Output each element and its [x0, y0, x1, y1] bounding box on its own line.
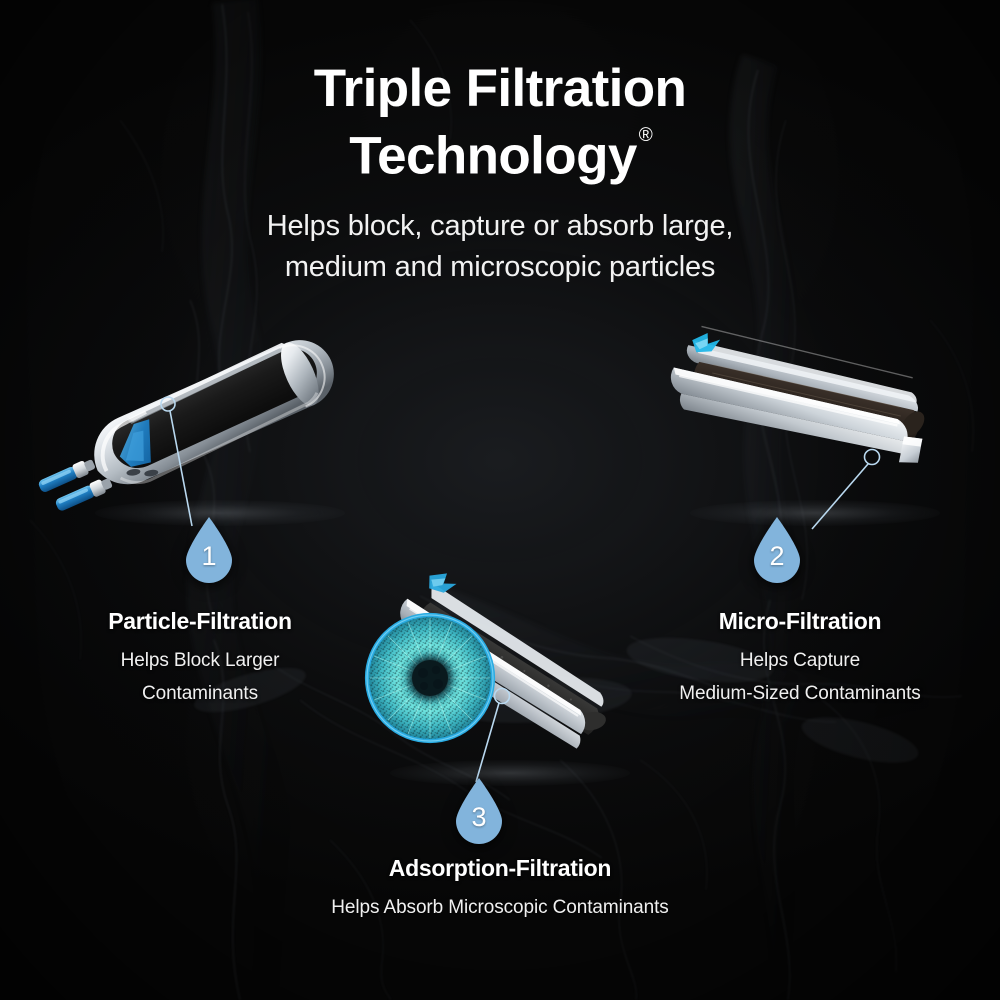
registered-trademark-symbol: ®: [639, 125, 653, 146]
step-2-number: 2: [749, 515, 805, 585]
page-title: Triple Filtration Technology®: [0, 58, 1000, 187]
step-3-title: Adsorption-Filtration: [240, 855, 760, 882]
step-1-title: Particle-Filtration: [40, 608, 360, 635]
infographic-canvas: Triple Filtration Technology® Helps bloc…: [0, 0, 1000, 1000]
step-3-droplet-badge[interactable]: 3: [451, 776, 507, 846]
step-2-title: Micro-Filtration: [640, 608, 960, 635]
step-1-number: 1: [181, 515, 237, 585]
step-1-description: Helps Block Larger Contaminants: [40, 644, 360, 710]
particle-filter-cartridge-icon: [40, 330, 360, 540]
page-title-text: Triple Filtration Technology: [314, 59, 687, 186]
filter-2-callout-leader: [812, 450, 880, 530]
step-2-description: Helps Capture Medium-Sized Contaminants: [640, 644, 960, 710]
step-2-droplet-badge[interactable]: 2: [749, 515, 805, 585]
step-2-block: Micro-Filtration Helps Capture Medium-Si…: [640, 608, 960, 710]
step-3-number: 3: [451, 776, 507, 846]
page-subtitle: Helps block, capture or absorb large, me…: [0, 206, 1000, 288]
step-1-block: Particle-Filtration Helps Block Larger C…: [40, 608, 360, 710]
micro-filter-cutaway-icon: [640, 335, 950, 535]
step-1-droplet-badge[interactable]: 1: [181, 515, 237, 585]
adsorption-filter-magnified-icon: [350, 600, 650, 805]
magnified-pore-inset: [367, 615, 493, 741]
step-3-description: Helps Absorb Microscopic Contaminants: [240, 891, 760, 924]
step-3-block: Adsorption-Filtration Helps Absorb Micro…: [240, 855, 760, 924]
